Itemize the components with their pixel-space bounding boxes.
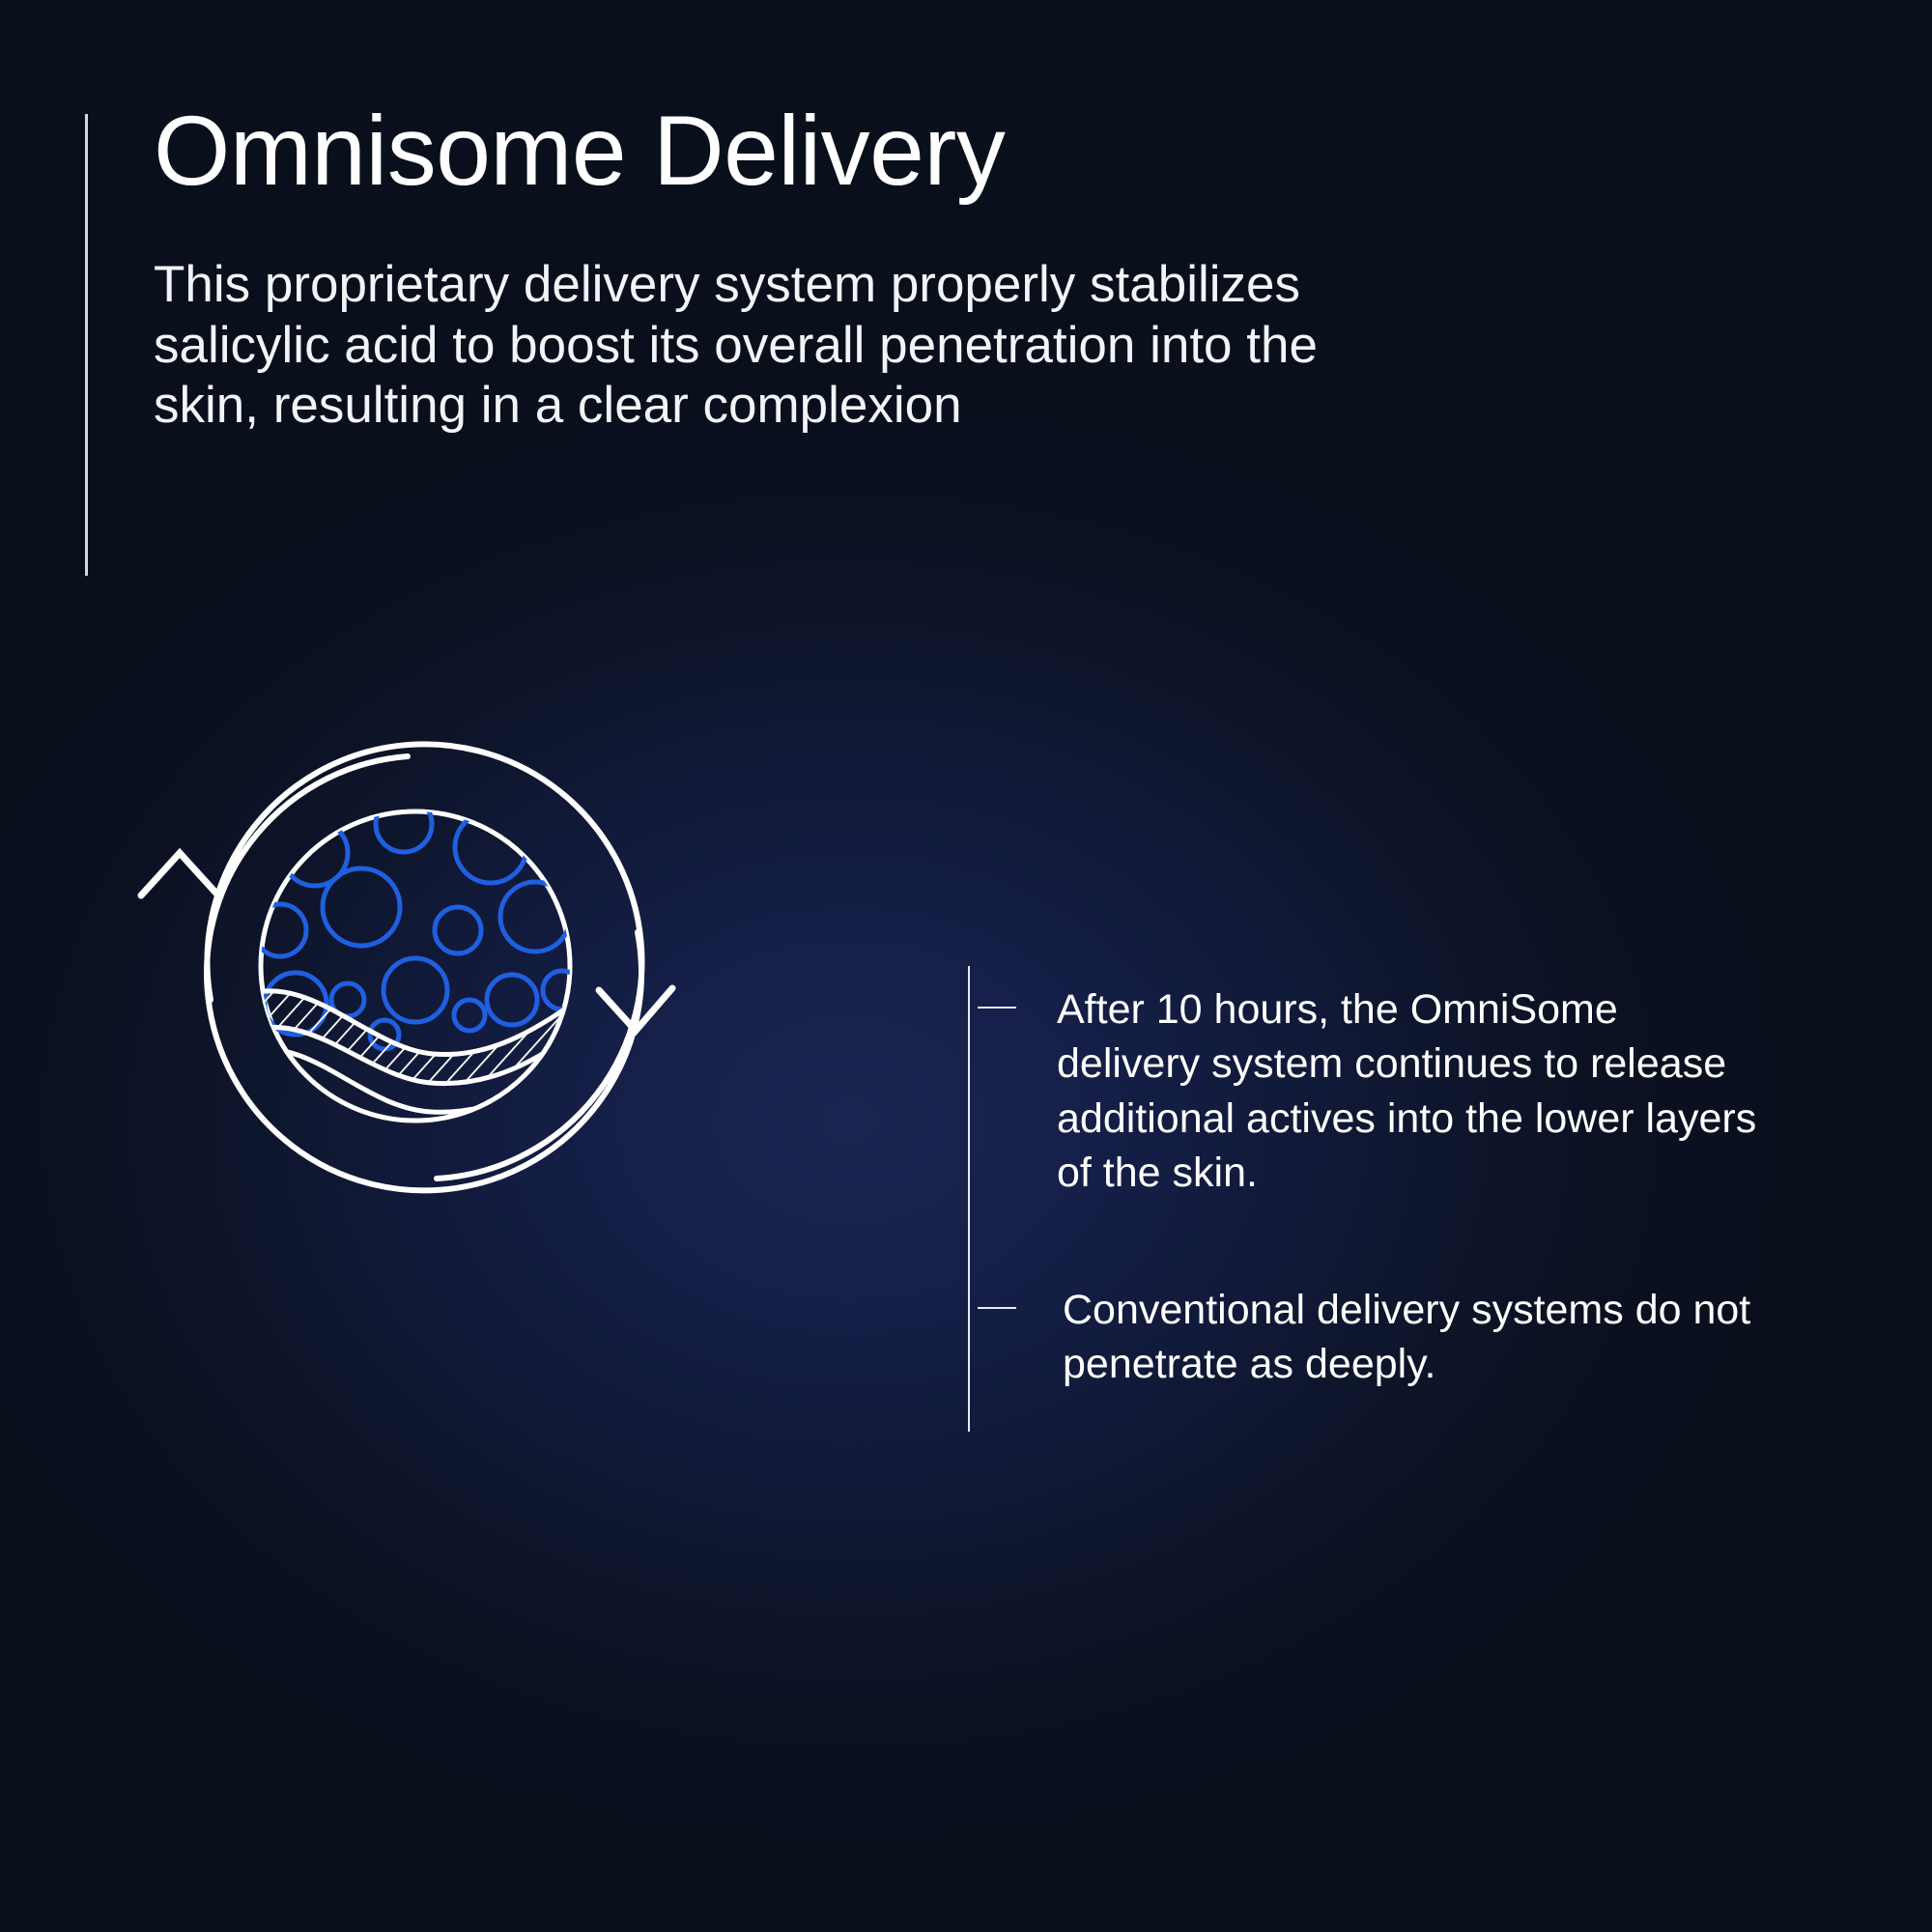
- callout-column: After 10 hours, the OmniSome delivery sy…: [968, 966, 1837, 1449]
- bubble: [323, 868, 400, 946]
- omnisome-cycle-diagram: [126, 710, 724, 1174]
- bubble: [254, 904, 306, 956]
- callout-tick-icon: [978, 1307, 1016, 1309]
- page-subtitle: This proprietary delivery system properl…: [154, 255, 1400, 437]
- callout-text: After 10 hours, the OmniSome delivery sy…: [1057, 982, 1760, 1200]
- diagram-svg: [126, 710, 724, 1174]
- cycle-arc-left: [207, 756, 641, 1190]
- page-title: Omnisome Delivery: [154, 99, 1766, 203]
- bubble: [454, 1000, 485, 1031]
- bubble: [233, 867, 270, 904]
- bubble: [384, 958, 447, 1022]
- bubble: [487, 975, 537, 1025]
- bubble: [376, 796, 432, 852]
- cycle-arrowhead-up: [141, 853, 218, 895]
- bubble: [543, 971, 582, 1009]
- header-block: Omnisome Delivery This proprietary deliv…: [85, 114, 1766, 576]
- poster-canvas: Omnisome Delivery This proprietary deliv…: [0, 0, 1932, 1932]
- callout-text: Conventional delivery systems do not pen…: [1057, 1283, 1760, 1392]
- bubble: [435, 907, 481, 953]
- callout-item: After 10 hours, the OmniSome delivery sy…: [968, 982, 1760, 1200]
- callout-tick-icon: [978, 1007, 1016, 1009]
- callout-item: Conventional delivery systems do not pen…: [968, 1283, 1760, 1392]
